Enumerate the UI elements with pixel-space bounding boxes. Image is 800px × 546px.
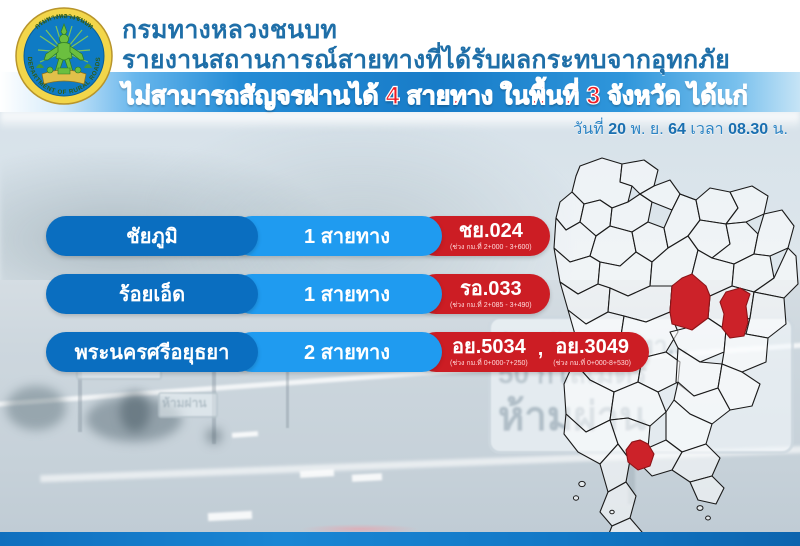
route-km-range: (ช่วง กม.ที่ 0+000-7+250) — [450, 360, 528, 367]
route-separator: , — [538, 338, 544, 361]
page-title-line2: รายงานสถานการณ์สายทางที่ได้รับผลกระทบจาก… — [122, 40, 730, 80]
time-label: เวลา — [690, 121, 723, 138]
time-value: 08.30 — [728, 121, 768, 138]
report-datetime: วันที่ 20 พ. ย. 64 เวลา 08.30 น. — [573, 117, 788, 142]
time-unit: น. — [773, 121, 788, 138]
affected-routes-table: ชัยภูมิ 1 สายทาง ชย.024 (ช่วง กม.ที่ 2+0… — [46, 216, 649, 390]
route-entry: รอ.033 (ช่วง กม.ที่ 2+085 - 3+490) — [450, 279, 532, 309]
route-entry: อย.3049 (ช่วง กม.ที่ 0+000-8+530) — [553, 337, 631, 367]
background-road-sign-text: ห้ามผ่าน — [162, 394, 207, 413]
infographic-canvas: ทางปิด ห้ามรถผ่าน ห้ามผ่าน บ้านห้วยห่ามท… — [0, 0, 800, 546]
background-sign-post-ball — [206, 428, 222, 444]
route-codes-pill[interactable]: อย.5034 (ช่วง กม.ที่ 0+000-7+250) , อย.3… — [416, 332, 649, 372]
province-name-pill[interactable]: ร้อยเอ็ด — [46, 274, 258, 314]
table-row: ร้อยเอ็ด 1 สายทาง รอ.033 (ช่วง กม.ที่ 2+… — [46, 274, 649, 314]
table-row: ชัยภูมิ 1 สายทาง ชย.024 (ช่วง กม.ที่ 2+0… — [46, 216, 649, 256]
highlight-ayutthaya — [626, 440, 654, 470]
province-name-label: พระนครศรีอยุธยา — [75, 336, 230, 368]
route-code: อย.3049 — [555, 337, 629, 357]
route-code: อย.5034 — [452, 337, 526, 357]
date-month: พ. ย. — [630, 121, 663, 138]
route-count-pill[interactable]: 1 สายทาง — [232, 216, 442, 256]
route-count-label: 1 สายทาง — [304, 220, 390, 252]
route-entry: ชย.024 (ช่วง กม.ที่ 2+000 - 3+600) — [450, 221, 532, 251]
date-day: 20 — [608, 121, 626, 138]
route-km-range: (ช่วง กม.ที่ 2+085 - 3+490) — [450, 302, 532, 309]
route-km-range: (ช่วง กม.ที่ 2+000 - 3+600) — [450, 244, 532, 251]
route-code: รอ.033 — [460, 279, 522, 299]
route-count-label: 1 สายทาง — [304, 278, 390, 310]
department-logo: . กรมทางหลวงชนบท DEPARTMENT OF RURAL ROA… — [14, 6, 114, 106]
province-name-pill[interactable]: ชัยภูมิ — [46, 216, 258, 256]
province-name-pill[interactable]: พระนครศรีอยุธยา — [46, 332, 258, 372]
background-person-silhouette — [120, 392, 150, 432]
province-name-label: ชัยภูมิ — [126, 220, 178, 252]
route-count-label: 2 สายทาง — [304, 336, 390, 368]
route-count-pill[interactable]: 2 สายทาง — [232, 332, 442, 372]
highlight-roiet — [720, 288, 750, 338]
table-row: พระนครศรีอยุธยา 2 สายทาง อย.5034 (ช่วง ก… — [46, 332, 649, 372]
route-code: ชย.024 — [459, 221, 523, 241]
bottom-bar — [0, 532, 800, 546]
route-km-range: (ช่วง กม.ที่ 0+000-8+530) — [553, 360, 631, 367]
province-name-label: ร้อยเอ็ด — [119, 278, 185, 310]
route-entry: อย.5034 (ช่วง กม.ที่ 0+000-7+250) — [450, 337, 528, 367]
date-prefix-label: วันที่ — [573, 121, 603, 138]
background-vehicle-silhouette — [6, 386, 66, 430]
header-banner-text: ไม่สามารถสัญจรผ่านได้ 4 สายทาง ในพื้นที่… — [122, 76, 748, 116]
route-count-pill[interactable]: 1 สายทาง — [232, 274, 442, 314]
date-year: 64 — [668, 121, 686, 138]
